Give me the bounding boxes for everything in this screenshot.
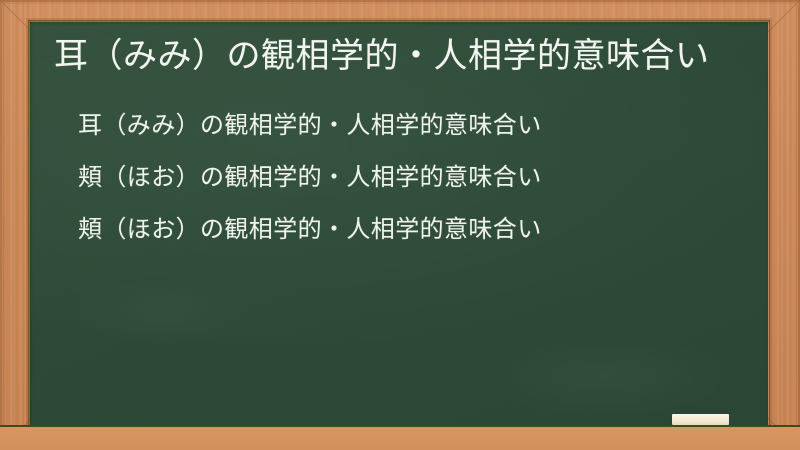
- page-title: 耳（みみ）の観相学的・人相学的意味合い: [48, 34, 750, 79]
- chalk-stick-icon: [672, 414, 729, 425]
- chalk-ledge: [0, 425, 800, 450]
- list-item[interactable]: 頬（ほお）の観相学的・人相学的意味合い: [78, 217, 750, 241]
- chalkboard-surface: 耳（みみ）の観相学的・人相学的意味合い 耳（みみ）の観相学的・人相学的意味合い …: [30, 22, 768, 425]
- list-item[interactable]: 耳（みみ）の観相学的・人相学的意味合い: [78, 113, 750, 137]
- topic-list: 耳（みみ）の観相学的・人相学的意味合い 頬（ほお）の観相学的・人相学的意味合い …: [48, 113, 750, 241]
- list-item[interactable]: 頬（ほお）の観相学的・人相学的意味合い: [78, 165, 750, 189]
- board-content: 耳（みみ）の観相学的・人相学的意味合い 耳（みみ）の観相学的・人相学的意味合い …: [30, 22, 768, 425]
- chalkboard-slide: 耳（みみ）の観相学的・人相学的意味合い 耳（みみ）の観相学的・人相学的意味合い …: [0, 0, 800, 450]
